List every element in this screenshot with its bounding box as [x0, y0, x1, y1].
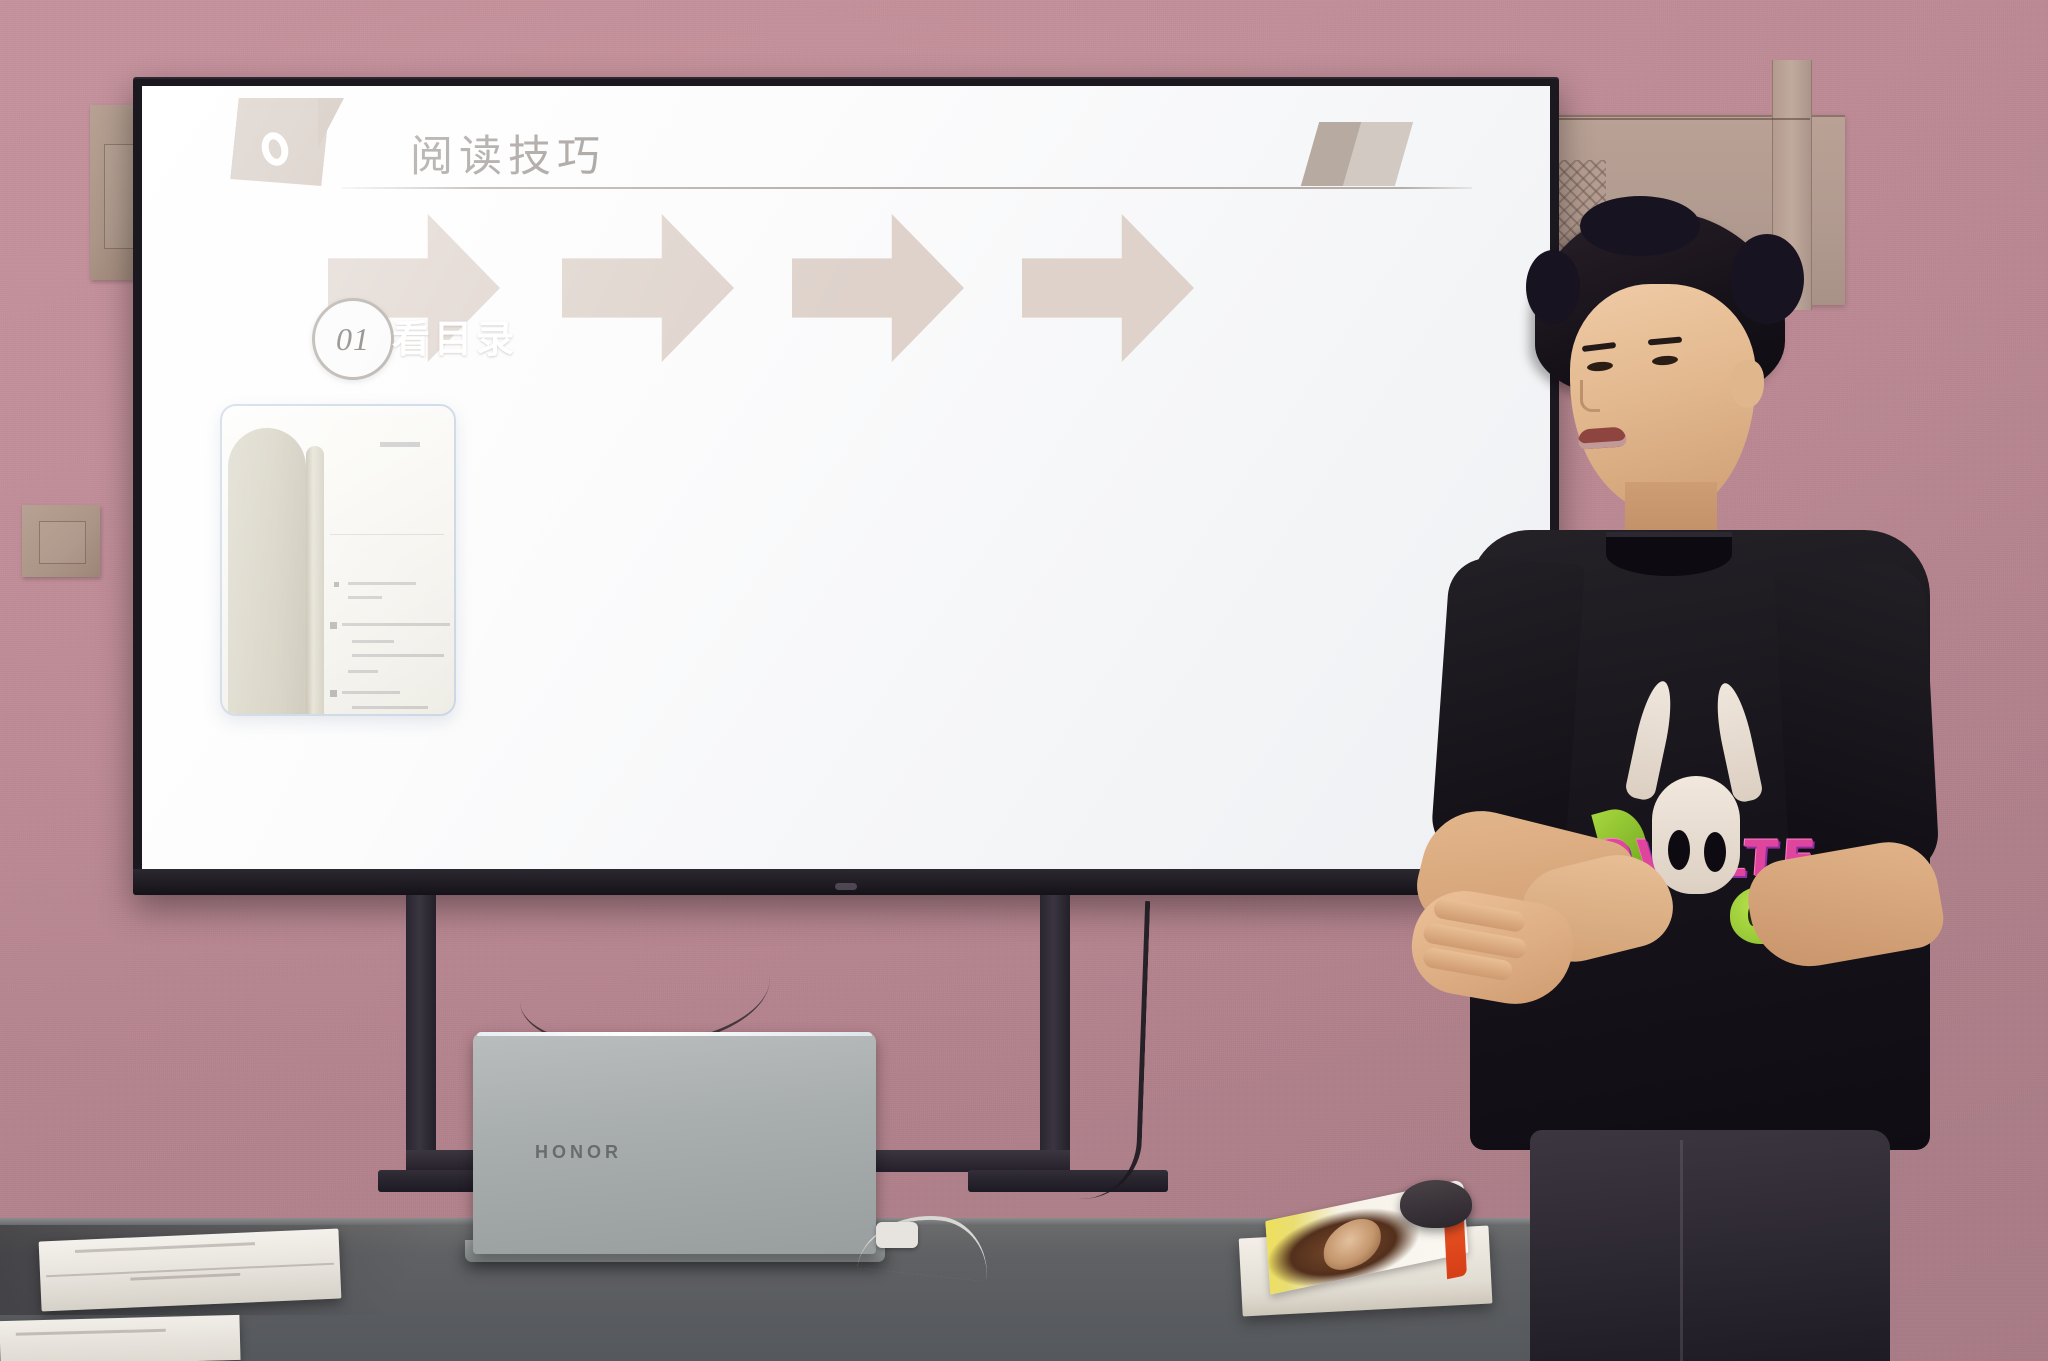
character-head	[1652, 776, 1740, 894]
classroom-presentation-scene: 阅读技巧 01 看目录	[0, 0, 2048, 1361]
book-right-page	[322, 414, 454, 714]
laptop-brand-label: HONOR	[535, 1142, 622, 1163]
step-number-badge: 01	[312, 298, 394, 380]
slide-book-photo	[220, 404, 456, 716]
nose	[1580, 380, 1600, 412]
slide-ribbon-tail	[318, 98, 344, 148]
tv-bottom-bezel	[133, 869, 1559, 895]
book-stack-left[interactable]	[39, 1228, 342, 1311]
mouth	[1577, 426, 1626, 449]
slide-title: 阅读技巧	[410, 122, 606, 184]
process-arrow-3	[792, 214, 964, 362]
ear	[1730, 360, 1764, 408]
wall-seam	[1540, 118, 1810, 120]
tv-stand-foot-right	[968, 1170, 1168, 1192]
pants	[1530, 1130, 1890, 1361]
book-gutter	[306, 446, 324, 716]
presenter: VOVELTE	[1430, 210, 1990, 1361]
wall-mounted-television[interactable]: 阅读技巧 01 看目录	[133, 77, 1559, 895]
book-cover-portrait	[1322, 1211, 1382, 1277]
character-eye-left	[1668, 830, 1690, 870]
book-toc-heading	[380, 442, 420, 447]
character-eye-right	[1704, 832, 1726, 872]
power-outlet[interactable]	[22, 505, 100, 577]
process-arrow-4	[1022, 214, 1194, 362]
tv-screen: 阅读技巧 01 看目录	[142, 86, 1550, 869]
shirt-collar	[1606, 532, 1732, 576]
tv-ir-sensor-icon	[835, 883, 857, 890]
title-underline	[342, 187, 1472, 189]
laptop[interactable]: HONOR	[473, 1032, 876, 1254]
laptop-charger-plug	[876, 1222, 918, 1248]
book-stack-left-lower[interactable]	[0, 1315, 241, 1361]
step-number-text: 01	[336, 321, 370, 358]
step-label-text: 看目录	[392, 308, 518, 363]
book-left-page	[228, 428, 306, 716]
process-arrow-2	[562, 214, 734, 362]
pants-seam	[1680, 1140, 1683, 1361]
tv-stand-column-left	[406, 895, 436, 1185]
tv-stand-column-right	[1040, 895, 1070, 1185]
